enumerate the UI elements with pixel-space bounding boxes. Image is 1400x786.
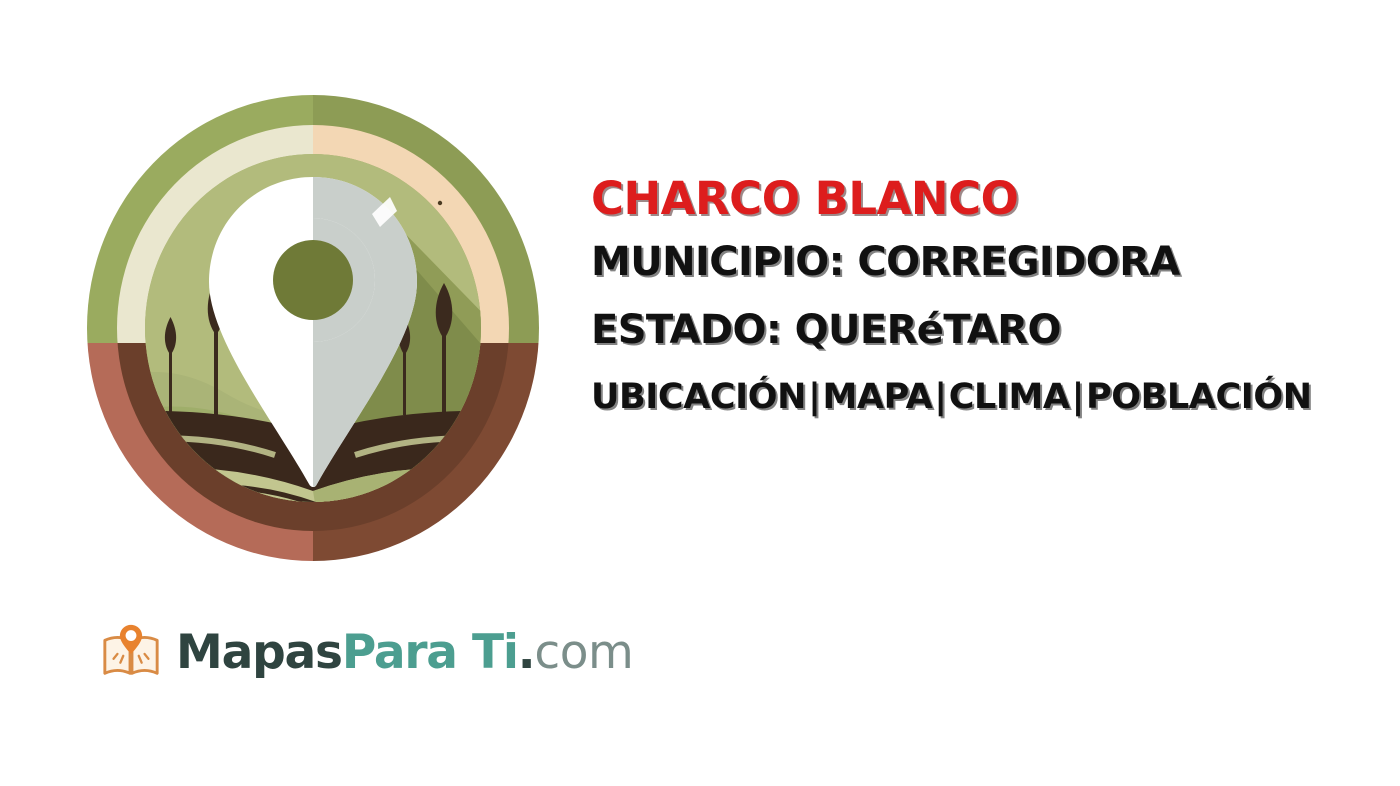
promo-card: MapasPara Ti.com CHARCO BLANCO MUNICIPIO… bbox=[0, 0, 1400, 786]
brand-logo[interactable]: MapasPara Ti.com bbox=[100, 614, 633, 690]
section-links-line: UBICACIÓN|MAPA|CLIMA|POBLACIÓN bbox=[591, 380, 1391, 415]
brand-word-dot: . bbox=[518, 625, 535, 680]
brand-word-com: com bbox=[534, 625, 633, 680]
open-book-pin-icon bbox=[100, 621, 162, 683]
link-poblacion[interactable]: POBLACIÓN bbox=[1086, 377, 1312, 417]
link-separator-1: | bbox=[806, 377, 822, 417]
map-pin-landscape-emblem bbox=[85, 93, 541, 563]
brand-word-mapas: Mapas bbox=[176, 625, 342, 680]
municipio-line: MUNICIPIO: CORREGIDORA bbox=[591, 242, 1391, 282]
link-separator-2: | bbox=[932, 377, 948, 417]
brand-word-parati: Para Ti bbox=[342, 625, 518, 680]
brand-wordmark: MapasPara Ti.com bbox=[176, 629, 633, 676]
page-title: CHARCO BLANCO bbox=[591, 176, 1391, 221]
link-mapa[interactable]: MAPA bbox=[822, 377, 932, 417]
place-info-block: CHARCO BLANCO MUNICIPIO: CORREGIDORA EST… bbox=[591, 176, 1391, 415]
link-separator-3: | bbox=[1070, 377, 1086, 417]
speck-dot bbox=[438, 201, 442, 205]
link-ubicacion[interactable]: UBICACIÓN bbox=[591, 377, 806, 417]
link-clima[interactable]: CLIMA bbox=[949, 377, 1070, 417]
emblem bbox=[85, 93, 541, 563]
estado-line: ESTADO: QUERéTARO bbox=[591, 310, 1391, 350]
